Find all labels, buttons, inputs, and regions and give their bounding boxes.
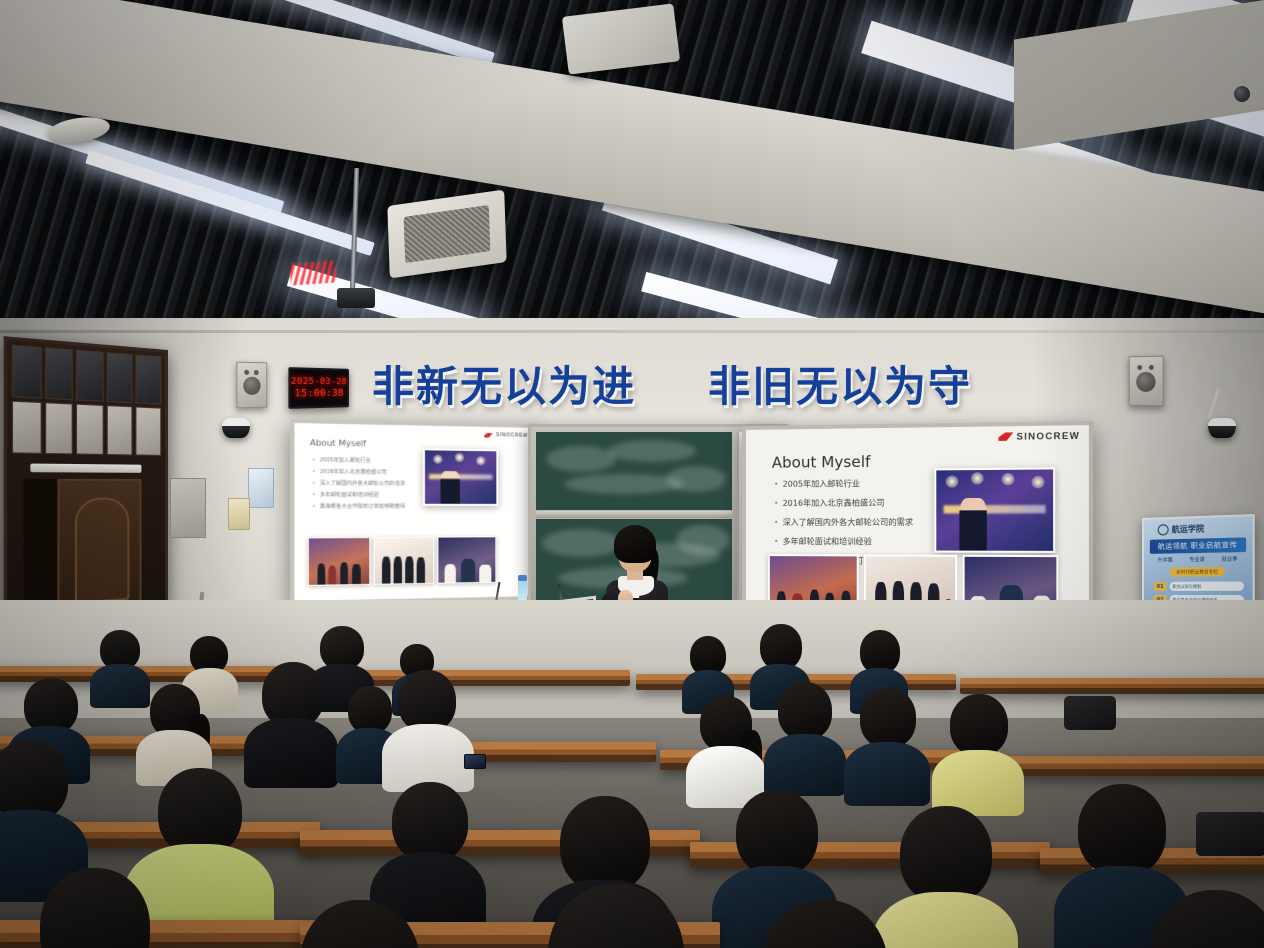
slide-bullet: 多年邮轮面试和培训经验 (312, 492, 423, 499)
wall-junction-box (170, 478, 206, 538)
slide-bullet: 2016年加入北京鑫柏盛公司 (774, 498, 927, 509)
desk-row (1000, 756, 1264, 776)
speaker-tweeter (1149, 365, 1154, 370)
door-glass-pane (45, 402, 73, 454)
wall-slogan: 非新无以为进 非旧无以为守 (372, 356, 972, 410)
speaker-tweeter (1137, 365, 1142, 370)
sinocrew-logo-icon (484, 432, 493, 437)
slide-bullet: 2016年加入北京鑫柏盛公司 (312, 469, 423, 476)
led-clock-time: 15:00:38 (294, 388, 343, 400)
speaker-tweeter (244, 370, 248, 375)
door-glass-pane (12, 401, 41, 454)
student-head (560, 796, 650, 892)
student-head (950, 694, 1008, 756)
student-head (392, 782, 468, 862)
door-arch-detail (75, 497, 130, 603)
door-glass-pane (12, 345, 41, 399)
wall-speaker-left (236, 362, 267, 409)
ceiling-camera-icon (1234, 86, 1250, 102)
slide-brand-left: SINOCREW (496, 432, 528, 439)
water-bottle-cap (518, 575, 527, 581)
presenter-hair (614, 525, 656, 563)
poster-subtitle: 升学路 (1158, 556, 1173, 563)
chalk-tray (536, 511, 732, 518)
desk-row (960, 678, 1264, 694)
slide-title-right: About Myself (772, 453, 871, 472)
slide-thumbnail (437, 536, 496, 583)
red-ceiling-reflection (289, 260, 336, 285)
backpack (1064, 696, 1116, 730)
wall-speaker-right (1129, 356, 1164, 407)
student-head (860, 688, 916, 748)
student-torso (244, 718, 338, 788)
student-head (778, 682, 832, 740)
classroom-scene: 非新无以为进 非旧无以为守 2025-03-28 15:00:38 (0, 0, 1264, 948)
door-glass-pane (76, 350, 103, 402)
door-leaf[interactable] (57, 479, 141, 620)
student-head (1078, 784, 1166, 876)
student-torso (764, 734, 846, 796)
poster-subtitles: 升学路 专业课 就业季 (1150, 555, 1246, 564)
sinocrew-logo-icon (998, 432, 1013, 440)
slide-bullet: 2005年加入邮轮行业 (774, 479, 927, 490)
projector (337, 288, 375, 308)
slide-bullet: 深入了解国内外各大邮轮公司的需求 (774, 518, 927, 528)
seal-icon (1158, 524, 1169, 535)
dome-camera-right (1208, 418, 1236, 438)
student-head (348, 686, 392, 734)
poster-school-logo: 航运学院 (1158, 523, 1204, 536)
poster-subtitle: 专业课 (1189, 556, 1204, 563)
slide-bullet: 多年邮轮面试和培训经验 (774, 537, 927, 547)
slide-bullet: 2005年加入邮轮行业 (312, 457, 423, 465)
classroom-door[interactable] (4, 336, 168, 628)
slide-logo-left: SINOCREW (484, 432, 528, 439)
slide-logo-right: SINOCREW (998, 430, 1080, 441)
led-clock-display: 2025-03-28 15:00:38 (288, 367, 349, 409)
door-glass-pane (136, 354, 161, 404)
door-transom-row (12, 345, 161, 405)
door-glass-pane (107, 405, 133, 455)
student-torso (844, 742, 930, 806)
slide-hero-photo-right (934, 467, 1055, 553)
door-push-bar[interactable] (30, 464, 141, 473)
student-head (736, 790, 818, 876)
slide-title-left: About Myself (310, 438, 366, 448)
door-glass-pane (76, 404, 103, 455)
slide-bullets-left: 2005年加入邮轮行业 2016年加入北京鑫柏盛公司 深入了解国内外各大邮轮公司… (312, 457, 423, 515)
door-transom-row (12, 401, 161, 456)
slide-bullet: 深入了解国内外各大邮轮公司的需求 (312, 480, 423, 487)
speaker-woofer (243, 377, 260, 396)
slide-thumbnail (308, 537, 371, 586)
led-clock-date: 2025-03-28 (291, 375, 347, 388)
slide-thumbnails-left (308, 536, 497, 586)
slide-thumbnail (374, 537, 435, 585)
student-head (398, 670, 456, 732)
poster-school-name: 航运学院 (1172, 523, 1205, 535)
slogan-right-phrase: 非旧无以为守 (708, 353, 972, 414)
wall-notice-yellow (228, 498, 250, 530)
chalkboard-upper (536, 432, 732, 510)
slide-bullet: 鑫海乘各大合作院校订单班特聘教师 (312, 504, 423, 510)
projection-screen-left: SINOCREW About Myself 2005年加入邮轮行业 2016年加… (290, 419, 540, 606)
door-glass-pane (45, 347, 73, 400)
wall-notice-blue (248, 468, 274, 508)
speaker-woofer (1136, 372, 1156, 392)
poster-item: 01 职业认知与规划 (1154, 581, 1244, 591)
ceiling (0, 0, 1264, 345)
door-glass-pane (136, 406, 161, 455)
poster-tag: 新时代职业教育专栏 (1170, 567, 1225, 577)
poster-headline: 航运领航 职业启航宣传 (1150, 537, 1246, 553)
ac-grille (404, 205, 491, 263)
door-glass-pane (107, 352, 133, 403)
student-head (900, 806, 992, 904)
slogan-left-phrase: 非新无以为进 (372, 353, 636, 414)
audience-area (0, 600, 1264, 948)
handbag (1196, 812, 1264, 856)
dome-camera-left (222, 418, 250, 438)
student-torso (90, 664, 150, 708)
slide-brand-right: SINOCREW (1016, 430, 1080, 441)
smartphone[interactable] (464, 754, 486, 769)
student-torso (872, 892, 1018, 948)
speaker-tweeter (254, 370, 258, 375)
student-head (158, 768, 242, 856)
poster-subtitle: 就业季 (1222, 555, 1238, 563)
slide-hero-photo-left (423, 448, 498, 506)
